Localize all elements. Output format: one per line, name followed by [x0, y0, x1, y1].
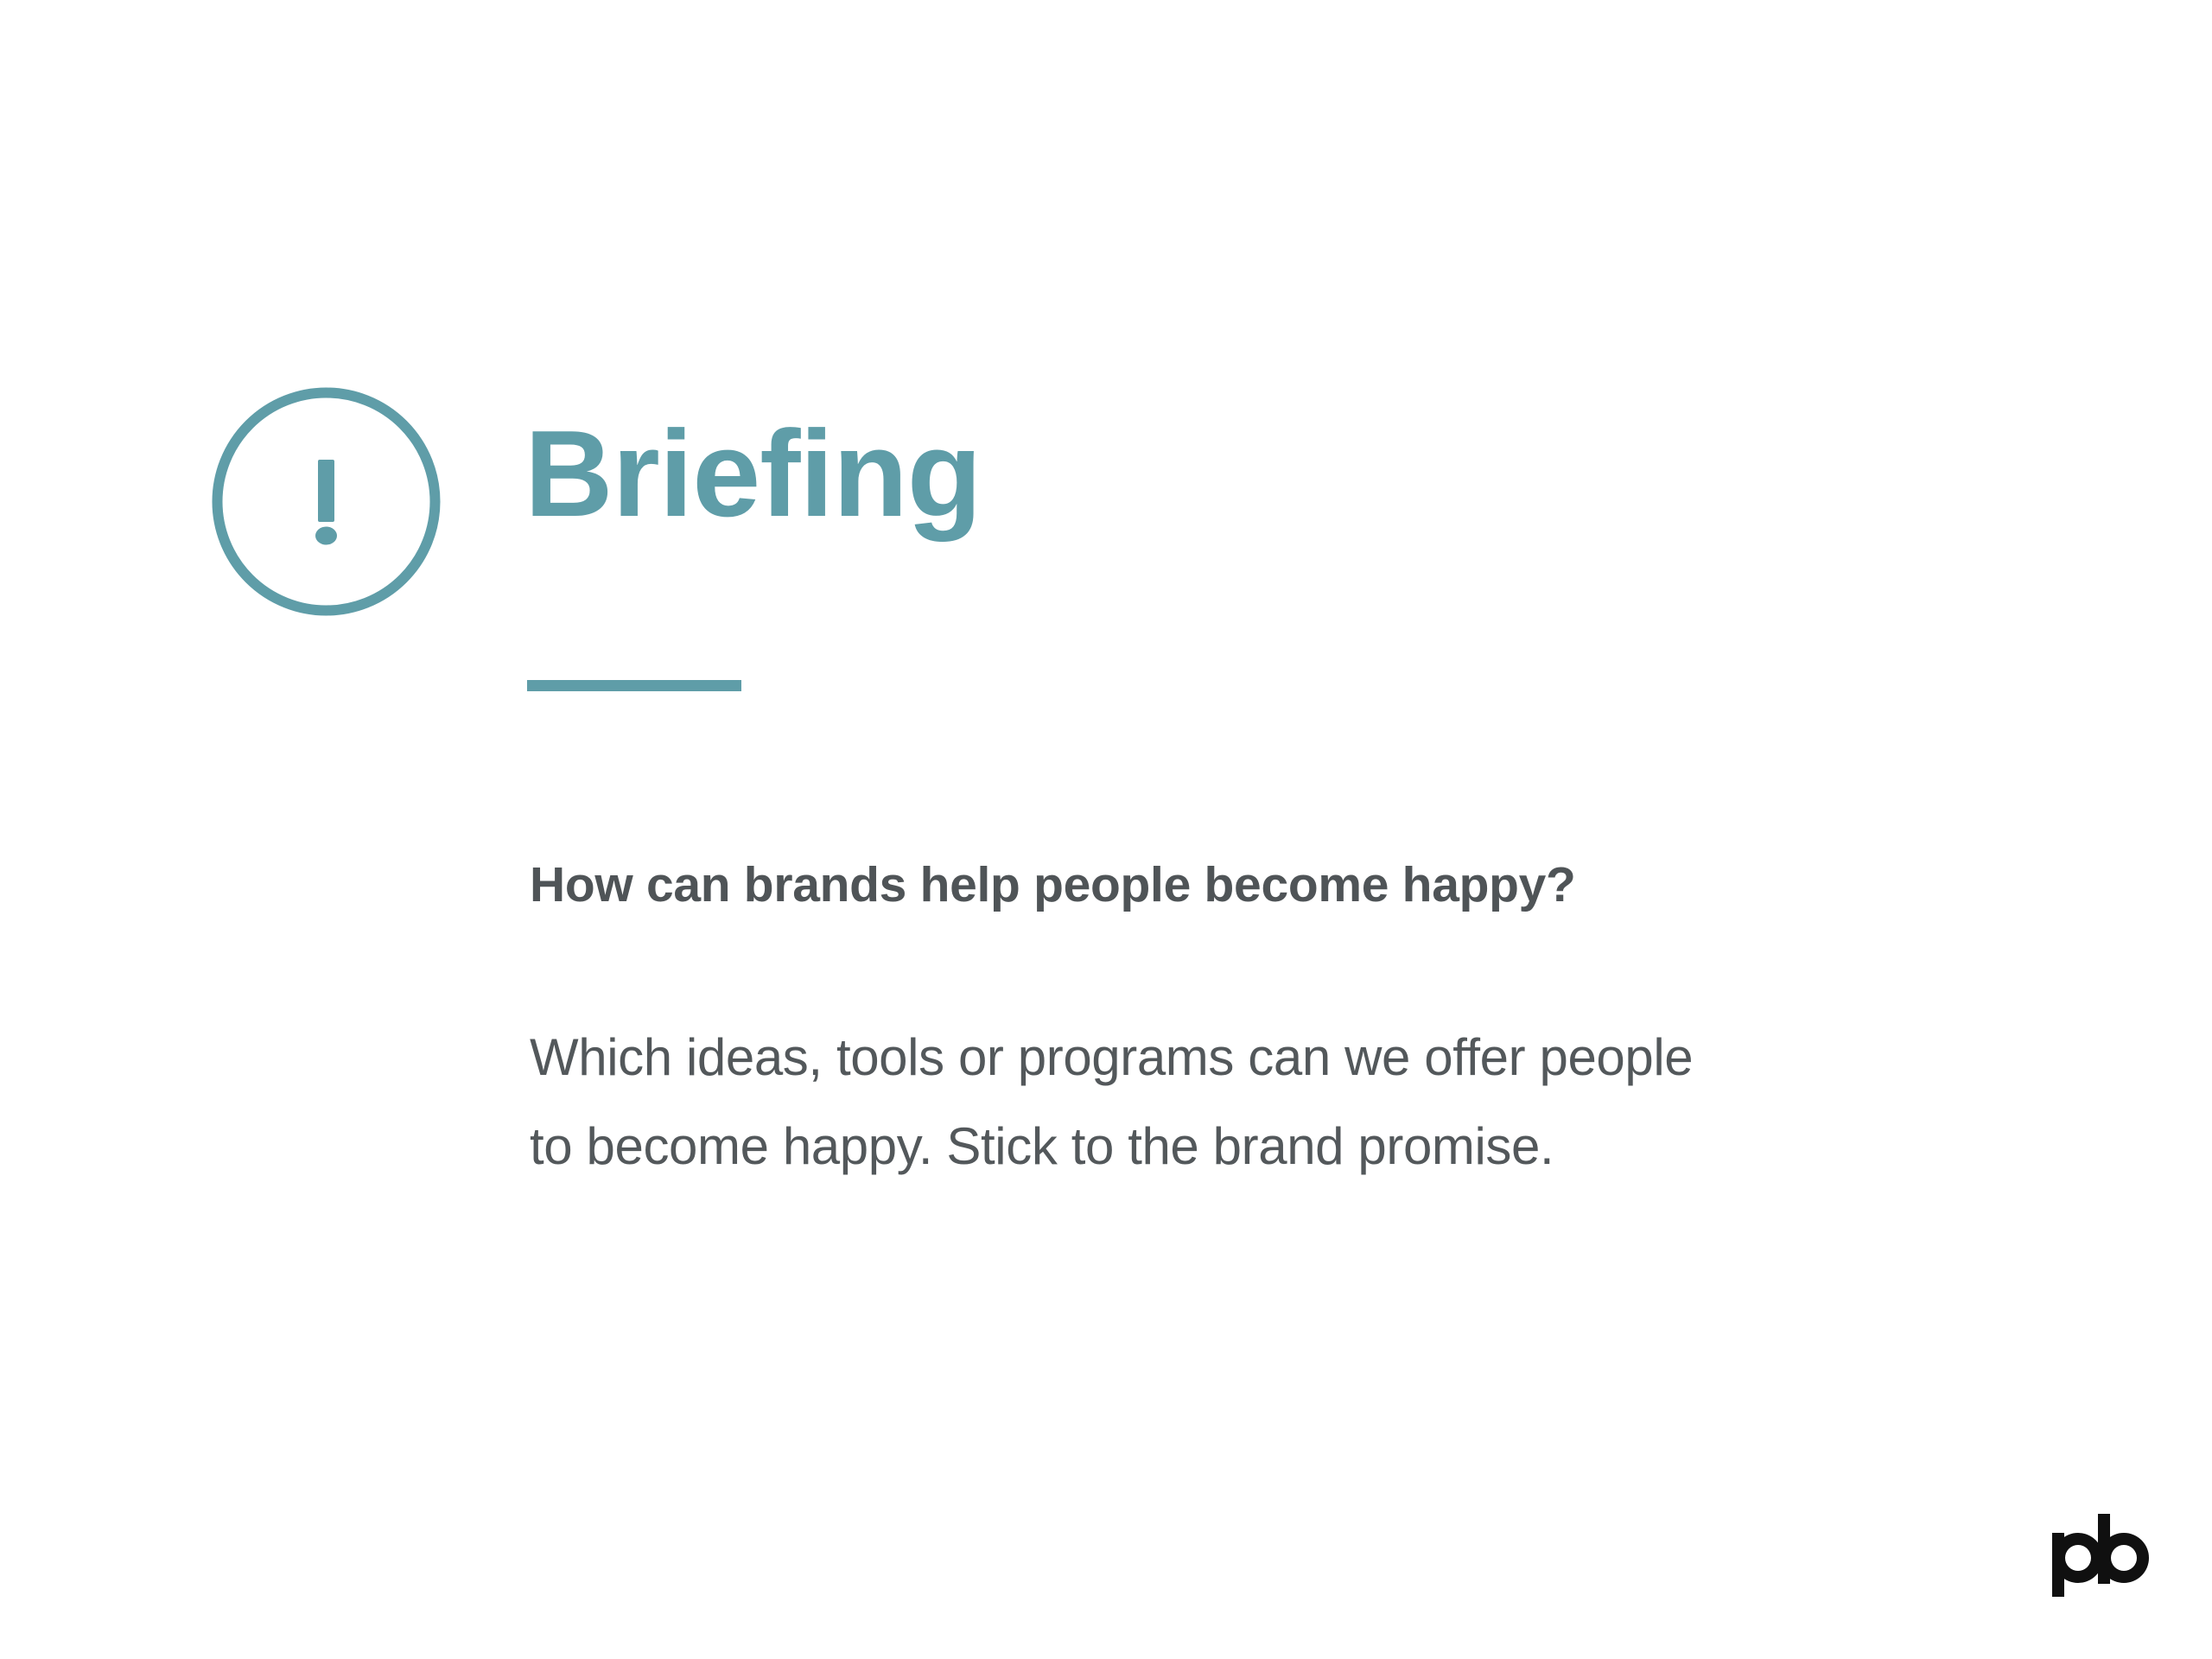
- slide-canvas: Briefing How can brands help people beco…: [0, 0, 2212, 1659]
- body-paragraph: Which ideas, tools or programs can we of…: [530, 916, 1912, 1191]
- slide-body: How can brands help people become happy?…: [530, 855, 1912, 1191]
- body-paragraph-line: to become happy. Stick to the brand prom…: [530, 1102, 1912, 1191]
- body-paragraph-line: Which ideas, tools or programs can we of…: [530, 1013, 1912, 1102]
- pb-logo: [2052, 1514, 2156, 1597]
- exclamation-circle-icon: [212, 387, 441, 616]
- page-title: Briefing: [524, 413, 981, 536]
- lead-question: How can brands help people become happy?: [530, 855, 1912, 916]
- title-underline-rule: [527, 680, 741, 691]
- slide-header: Briefing: [0, 0, 2212, 709]
